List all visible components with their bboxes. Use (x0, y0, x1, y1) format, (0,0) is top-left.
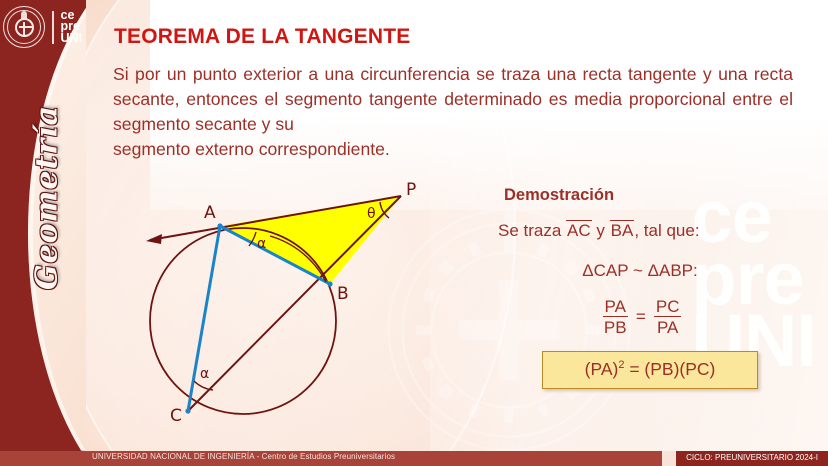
result-formula-box: (PA)2 = (PB)(PC) (542, 351, 758, 389)
logo-text: ce pre UNI (61, 10, 83, 45)
theorem-statement-last-line: segmento externo correspondiente. (113, 137, 793, 162)
fraction-right-denominator: PA (657, 317, 678, 337)
label-alpha-a: α (257, 236, 266, 252)
fraction-right: PC PA (654, 297, 682, 337)
proportion-equation: PA PB = PC PA (490, 297, 810, 337)
proof-construction-prefix: Se traza (498, 221, 561, 240)
footer-corner-accent (0, 445, 86, 451)
page-title: TEOREMA DE LA TANGENTE (114, 25, 410, 49)
uni-seal-icon (3, 6, 45, 48)
logo-divider (52, 11, 54, 44)
theorem-statement: Si por un punto exterior a una circunfer… (113, 62, 793, 162)
vertex-c (185, 408, 190, 413)
label-c: C (170, 406, 182, 426)
proof-construction-suffix: , tal que: (634, 221, 699, 240)
result-base: (PA) (585, 359, 619, 379)
fraction-left-denominator: PB (604, 317, 627, 337)
slide: 1876 ce pre UNI Geometría ce pre UNI TEO… (0, 0, 828, 466)
logo-text-uni: UNI (61, 33, 83, 45)
segment-ba-label: BA (610, 220, 635, 240)
subject-label-geometria: Geometría (30, 73, 65, 323)
proof-section: Demostración Se traza AC y BA, tal que: … (490, 186, 810, 389)
label-theta-p: θ (367, 206, 376, 222)
tangent-arrow-head (146, 234, 162, 244)
similarity-statement: ΔCAP ~ ΔABP: (490, 261, 810, 281)
fraction-right-numerator: PC (654, 297, 682, 317)
label-alpha-c: α (200, 366, 209, 382)
result-rest: = (PB)(PC) (624, 359, 715, 379)
vertex-b (327, 281, 332, 286)
proof-construction-line: Se traza AC y BA, tal que: (498, 221, 810, 241)
fraction-left-numerator: PA (603, 297, 628, 317)
label-a: A (204, 203, 216, 223)
seal-gear-icon (15, 18, 34, 37)
label-b: B (337, 284, 349, 304)
proof-conjunction: y (596, 221, 605, 240)
fraction-left: PA PB (603, 297, 628, 337)
brand-logo: ce pre UNI (3, 4, 123, 50)
footer-cycle-badge: CICLO: PREUNIVERSITARIO 2024-I (676, 451, 828, 466)
equals-sign: = (636, 307, 646, 327)
proof-title: Demostración (504, 186, 810, 205)
footer-institution-text: UNIVERSIDAD NACIONAL DE INGENIERÍA - Cen… (92, 452, 395, 461)
tangent-theorem-diagram: A B C P α α θ (118, 178, 428, 428)
footer-bar: UNIVERSIDAD NACIONAL DE INGENIERÍA - Cen… (0, 451, 828, 466)
theorem-statement-main: Si por un punto exterior a una circunfer… (113, 64, 793, 134)
segment-ac-label: AC (566, 220, 592, 240)
vertex-a (217, 223, 222, 228)
label-p: P (406, 180, 416, 200)
